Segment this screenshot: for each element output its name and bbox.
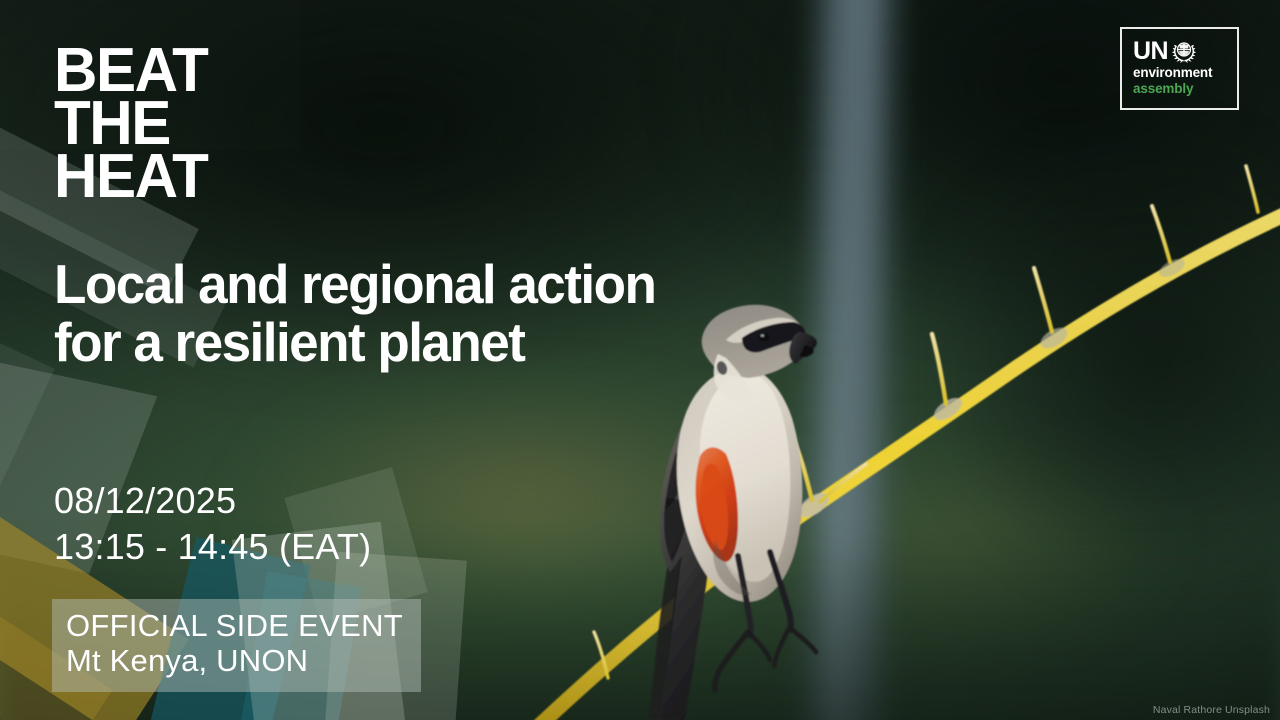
event-subtitle: Local and regional action for a resilien…: [54, 255, 655, 372]
campaign-kicker-headline: BEAT THE HEAT: [54, 44, 207, 203]
photo-credit: Naval Rathore Unsplash: [1153, 704, 1270, 716]
logo-assembly-line: assembly: [1133, 81, 1228, 97]
logo-top-row: UN: [1133, 37, 1228, 65]
side-event-venue: Mt Kenya, UNON: [66, 644, 403, 679]
poster-canvas: BEAT THE HEAT Local and regional action …: [0, 0, 1280, 720]
bird-body-group: [648, 305, 817, 720]
logo-environment-line: environment: [1133, 65, 1228, 81]
event-date-time: 08/12/2025 13:15 - 14:45 (EAT): [54, 478, 371, 570]
logo-un-wordmark: UN: [1133, 39, 1168, 64]
side-event-label: OFFICIAL SIDE EVENT: [66, 609, 403, 644]
un-environment-assembly-logo: UN: [1120, 27, 1239, 110]
official-side-event-banner: OFFICIAL SIDE EVENT Mt Kenya, UNON: [52, 599, 421, 692]
un-emblem-icon: [1172, 39, 1196, 63]
